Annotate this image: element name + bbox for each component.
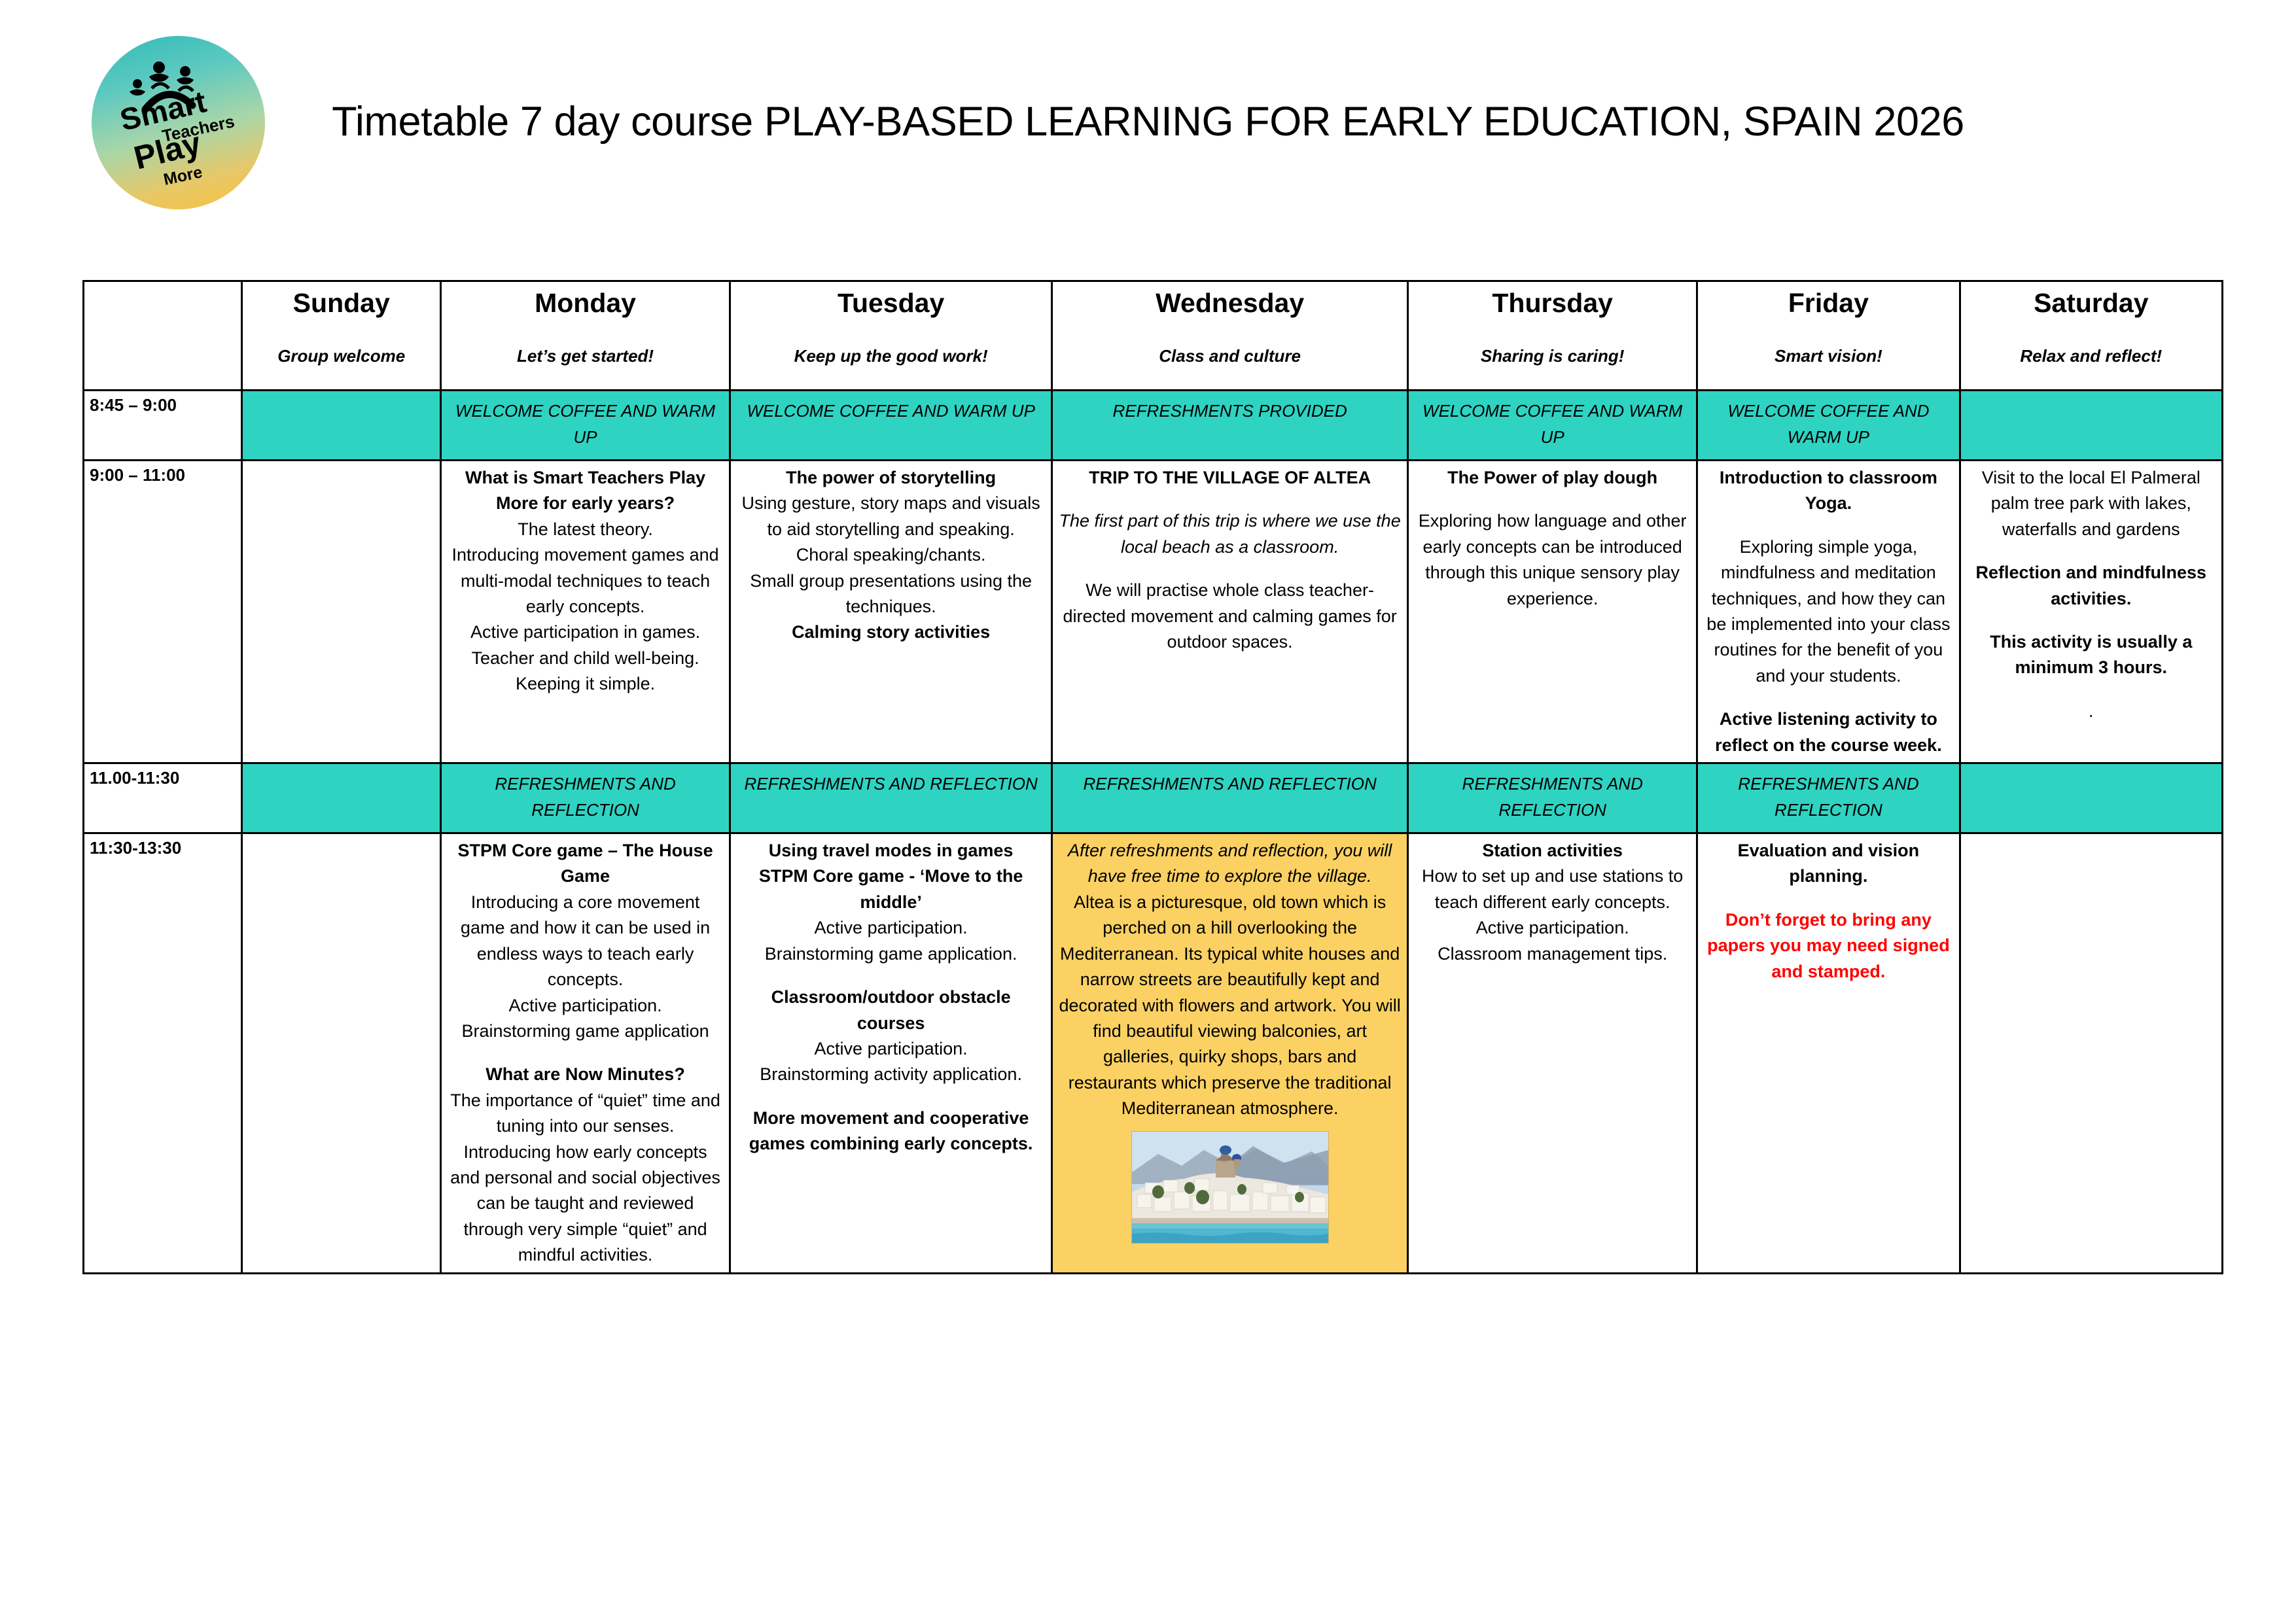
cell-sunday-morning-break	[242, 391, 441, 461]
activity-line: Teacher and child well-being.	[447, 646, 724, 671]
cell-friday-session-two: Evaluation and vision planning. Don’t fo…	[1697, 833, 1960, 1274]
day-header-monday: Monday Let’s get started!	[441, 281, 730, 391]
paragraph-gap	[1058, 491, 1402, 508]
activity-italic-note: The first part of this trip is where we …	[1058, 508, 1402, 560]
session-one-tuesday-body: The power of storytelling Using gesture,…	[736, 465, 1046, 646]
cell-thursday-midmorning-break: REFRESHMENTS AND REFLECTION	[1408, 763, 1697, 833]
altea-photo-wrapper	[1058, 1131, 1402, 1244]
activity-line: Introducing a core movement game and how…	[447, 890, 724, 993]
time-label-session-one: 9:00 – 11:00	[84, 461, 242, 763]
session-one-monday-body: What is Smart Teachers Play More for ear…	[447, 465, 724, 697]
activity-line: Small group presentations using the tech…	[736, 568, 1046, 620]
paragraph-gap	[1703, 689, 1953, 707]
activity-heading: More movement and cooperative games comb…	[736, 1106, 1046, 1157]
day-header-sunday: Sunday Group welcome	[242, 281, 441, 391]
break-text-sunday	[248, 395, 434, 398]
table-header-row: Sunday Group welcome Monday Let’s get st…	[84, 281, 2223, 391]
activity-line: We will practise whole class teacher-dir…	[1058, 578, 1402, 655]
cell-thursday-session-two: Station activities How to set up and use…	[1408, 833, 1697, 1274]
session-one-friday-body: Introduction to classroom Yoga. Explorin…	[1703, 465, 1953, 758]
activity-line: Active participation.	[447, 993, 724, 1019]
row-midmorning-break: 11.00-11:30 REFRESHMENTS AND REFLECTION …	[84, 763, 2223, 833]
cell-saturday-session-one: Visit to the local El Palmeral palm tree…	[1960, 461, 2222, 763]
time-label-morning-break: 8:45 – 9:00	[84, 391, 242, 461]
session-two-tuesday-body: Using travel modes in games STPM Core ga…	[736, 838, 1046, 1157]
paragraph-gap	[1703, 517, 1953, 534]
paragraph-gap	[736, 1088, 1046, 1106]
day-motto-sunday: Group welcome	[248, 347, 434, 366]
activity-footer: Active listening activity to reflect on …	[1703, 707, 1953, 758]
paragraph-gap	[1966, 681, 2216, 699]
cell-tuesday-midmorning-break: REFRESHMENTS AND REFLECTION	[730, 763, 1052, 833]
activity-trailing-mark: .	[1966, 699, 2216, 724]
day-motto-monday: Let’s get started!	[447, 347, 724, 366]
activity-line: Exploring how language and other early c…	[1414, 508, 1691, 612]
session-two-wednesday-body: After refreshments and reflection, you w…	[1058, 838, 1402, 1121]
cell-wednesday-morning-break: REFRESHMENTS PROVIDED	[1052, 391, 1408, 461]
day-motto-wednesday: Class and culture	[1058, 347, 1402, 366]
day-name-saturday: Saturday	[1966, 290, 2216, 317]
day-name-friday: Friday	[1703, 290, 1953, 317]
cell-wednesday-midmorning-break: REFRESHMENTS AND REFLECTION	[1052, 763, 1408, 833]
course-timetable: Sunday Group welcome Monday Let’s get st…	[82, 280, 2223, 1274]
paragraph-gap	[1966, 612, 2216, 629]
session-two-thursday-body: Station activities How to set up and use…	[1414, 838, 1691, 967]
activity-line: The importance of “quiet” time and tunin…	[447, 1088, 724, 1140]
activity-line: Exploring simple yoga, mindfulness and m…	[1703, 534, 1953, 689]
row-session-one: 9:00 – 11:00 What is Smart Teachers Play…	[84, 461, 2223, 763]
break-text-tuesday: REFRESHMENTS AND REFLECTION	[736, 768, 1046, 797]
activity-heading: The power of storytelling	[736, 465, 1046, 491]
cell-monday-session-two: STPM Core game – The House Game Introduc…	[441, 833, 730, 1274]
break-text-friday: WELCOME COFFEE AND WARM UP	[1703, 395, 1953, 451]
day-motto-thursday: Sharing is caring!	[1414, 347, 1691, 366]
activity-heading: What are Now Minutes?	[447, 1062, 724, 1087]
activity-heading: Evaluation and vision planning.	[1703, 838, 1953, 890]
break-text-saturday	[1966, 395, 2216, 398]
paragraph-gap	[447, 1044, 724, 1062]
activity-line: Active participation.	[1414, 915, 1691, 941]
altea-town-photo	[1131, 1131, 1329, 1244]
day-header-wednesday: Wednesday Class and culture	[1052, 281, 1408, 391]
cell-saturday-midmorning-break	[1960, 763, 2222, 833]
break-text-thursday: REFRESHMENTS AND REFLECTION	[1414, 768, 1691, 824]
activity-heading: Station activities	[1414, 838, 1691, 864]
day-header-saturday: Saturday Relax and reflect!	[1960, 281, 2222, 391]
activity-heading: STPM Core game - ‘Move to the middle’	[736, 864, 1046, 915]
day-header-thursday: Thursday Sharing is caring!	[1408, 281, 1697, 391]
cell-saturday-session-two	[1960, 833, 2222, 1274]
activity-line: Introducing how early concepts and perso…	[447, 1140, 724, 1268]
paragraph-gap	[1966, 542, 2216, 560]
cell-sunday-session-one	[242, 461, 441, 763]
activity-line: Active participation in games.	[447, 620, 724, 645]
day-name-sunday: Sunday	[248, 290, 434, 317]
activity-line: Active participation.	[736, 915, 1046, 941]
activity-line: Brainstorming activity application.	[736, 1062, 1046, 1087]
break-text-wednesday: REFRESHMENTS PROVIDED	[1058, 395, 1402, 424]
activity-italic-note: After refreshments and reflection, you w…	[1058, 838, 1402, 890]
cell-tuesday-session-one: The power of storytelling Using gesture,…	[730, 461, 1052, 763]
day-header-tuesday: Tuesday Keep up the good work!	[730, 281, 1052, 391]
cell-tuesday-session-two: Using travel modes in games STPM Core ga…	[730, 833, 1052, 1274]
activity-bold-note: Reflection and mindfulness activities.	[1966, 560, 2216, 612]
paragraph-gap	[1414, 491, 1691, 508]
break-text-saturday	[1966, 768, 2216, 771]
row-session-two: 11:30-13:30 STPM Core game – The House G…	[84, 833, 2223, 1274]
activity-line: Brainstorming game application	[447, 1019, 724, 1044]
session-two-monday-body: STPM Core game – The House Game Introduc…	[447, 838, 724, 1268]
break-text-sunday	[248, 768, 434, 771]
activity-heading: Introduction to classroom Yoga.	[1703, 465, 1953, 517]
paragraph-gap	[1058, 560, 1402, 578]
activity-line: Classroom management tips.	[1414, 941, 1691, 967]
break-text-tuesday: WELCOME COFFEE AND WARM UP	[736, 395, 1046, 424]
cell-wednesday-session-two: After refreshments and reflection, you w…	[1052, 833, 1408, 1274]
session-one-wednesday-body: TRIP TO THE VILLAGE OF ALTEA The first p…	[1058, 465, 1402, 655]
paragraph-gap	[736, 967, 1046, 985]
day-name-monday: Monday	[447, 290, 724, 317]
cell-sunday-session-two	[242, 833, 441, 1274]
day-motto-tuesday: Keep up the good work!	[736, 347, 1046, 366]
break-text-thursday: WELCOME COFFEE AND WARM UP	[1414, 395, 1691, 451]
break-text-monday: WELCOME COFFEE AND WARM UP	[447, 395, 724, 451]
activity-footer: Calming story activities	[736, 620, 1046, 645]
break-text-monday: REFRESHMENTS AND REFLECTION	[447, 768, 724, 824]
day-name-tuesday: Tuesday	[736, 290, 1046, 317]
day-header-friday: Friday Smart vision!	[1697, 281, 1960, 391]
cell-monday-midmorning-break: REFRESHMENTS AND REFLECTION	[441, 763, 730, 833]
day-motto-saturday: Relax and reflect!	[1966, 347, 2216, 366]
activity-line: Introducing movement games and multi-mod…	[447, 542, 724, 620]
activity-heading: STPM Core game – The House Game	[447, 838, 724, 890]
paragraph-gap	[1703, 890, 1953, 907]
session-one-thursday-body: The Power of play dough Exploring how la…	[1414, 465, 1691, 612]
session-two-friday-body: Evaluation and vision planning. Don’t fo…	[1703, 838, 1953, 985]
cell-monday-session-one: What is Smart Teachers Play More for ear…	[441, 461, 730, 763]
cell-thursday-session-one: The Power of play dough Exploring how la…	[1408, 461, 1697, 763]
day-motto-friday: Smart vision!	[1703, 347, 1953, 366]
cell-monday-morning-break: WELCOME COFFEE AND WARM UP	[441, 391, 730, 461]
activity-heading: Classroom/outdoor obstacle courses	[736, 985, 1046, 1036]
activity-line: Altea is a picturesque, old town which i…	[1058, 890, 1402, 1122]
break-text-wednesday: REFRESHMENTS AND REFLECTION	[1058, 768, 1402, 797]
page-title: Timetable 7 day course PLAY-BASED LEARNI…	[0, 98, 2296, 145]
day-name-thursday: Thursday	[1414, 290, 1691, 317]
reminder-alert-text: Don’t forget to bring any papers you may…	[1703, 907, 1953, 985]
activity-line: Keeping it simple.	[447, 671, 724, 697]
activity-line: Using gesture, story maps and visuals to…	[736, 491, 1046, 542]
activity-line: Active participation.	[736, 1036, 1046, 1062]
header-corner-cell	[84, 281, 242, 391]
activity-heading: The Power of play dough	[1414, 465, 1691, 491]
activity-bold-note: This activity is usually a minimum 3 hou…	[1966, 629, 2216, 681]
cell-wednesday-session-one: TRIP TO THE VILLAGE OF ALTEA The first p…	[1052, 461, 1408, 763]
cell-friday-session-one: Introduction to classroom Yoga. Explorin…	[1697, 461, 1960, 763]
day-name-wednesday: Wednesday	[1058, 290, 1402, 317]
activity-line: The latest theory.	[447, 517, 724, 542]
cell-tuesday-morning-break: WELCOME COFFEE AND WARM UP	[730, 391, 1052, 461]
activity-line: Visit to the local El Palmeral palm tree…	[1966, 465, 2216, 542]
activity-heading: What is Smart Teachers Play More for ear…	[447, 465, 724, 517]
activity-line: Brainstorming game application.	[736, 941, 1046, 967]
time-label-midmorning-break: 11.00-11:30	[84, 763, 242, 833]
session-one-saturday-body: Visit to the local El Palmeral palm tree…	[1966, 465, 2216, 724]
activity-line: Choral speaking/chants.	[736, 542, 1046, 568]
activity-line: How to set up and use stations to teach …	[1414, 864, 1691, 915]
activity-heading: TRIP TO THE VILLAGE OF ALTEA	[1058, 465, 1402, 491]
cell-saturday-morning-break	[1960, 391, 2222, 461]
page-header: Smart Teachers Play More Timetable 7 day…	[0, 0, 2296, 216]
cell-sunday-midmorning-break	[242, 763, 441, 833]
activity-heading: Using travel modes in games	[736, 838, 1046, 864]
cell-friday-morning-break: WELCOME COFFEE AND WARM UP	[1697, 391, 1960, 461]
break-text-friday: REFRESHMENTS AND REFLECTION	[1703, 768, 1953, 824]
row-morning-break: 8:45 – 9:00 WELCOME COFFEE AND WARM UP W…	[84, 391, 2223, 461]
cell-friday-midmorning-break: REFRESHMENTS AND REFLECTION	[1697, 763, 1960, 833]
cell-thursday-morning-break: WELCOME COFFEE AND WARM UP	[1408, 391, 1697, 461]
time-label-session-two: 11:30-13:30	[84, 833, 242, 1274]
